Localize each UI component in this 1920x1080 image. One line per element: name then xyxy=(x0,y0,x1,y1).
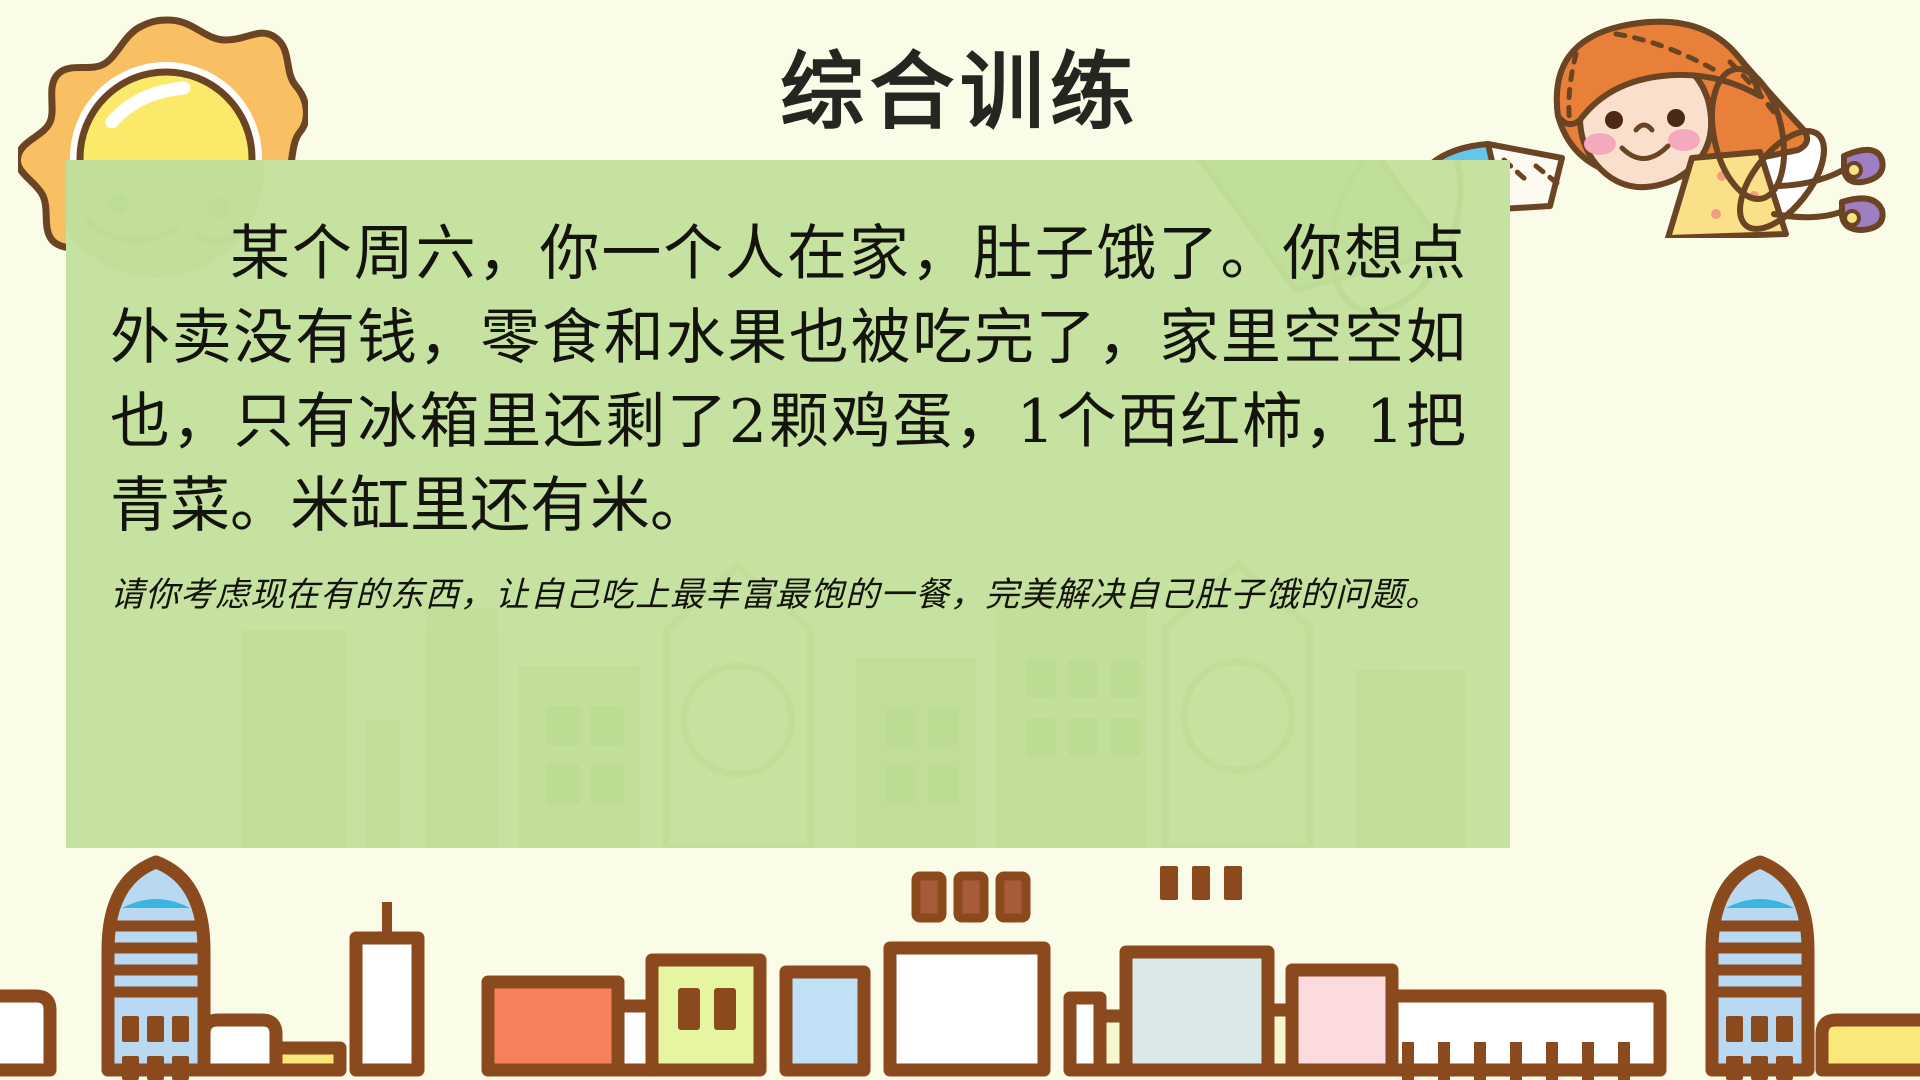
slide-canvas: 综合训练 xyxy=(0,0,1920,1080)
card-body: 某个周六，你一个人在家，肚子饿了。你想点外卖没有钱，零食和水果也被吃完了，家里空… xyxy=(66,160,1510,620)
city-skyline-illustration xyxy=(0,820,1920,1080)
main-paragraph: 某个周六，你一个人在家，肚子饿了。你想点外卖没有钱，零食和水果也被吃完了，家里空… xyxy=(110,212,1466,548)
sub-paragraph: 请你考虑现在有的东西，让自己吃上最丰富最饱的一餐，完美解决自己肚子饿的问题。 xyxy=(110,570,1466,620)
content-card: 某个周六，你一个人在家，肚子饿了。你想点外卖没有钱，零食和水果也被吃完了，家里空… xyxy=(66,160,1510,848)
page-title: 综合训练 xyxy=(0,46,1920,138)
